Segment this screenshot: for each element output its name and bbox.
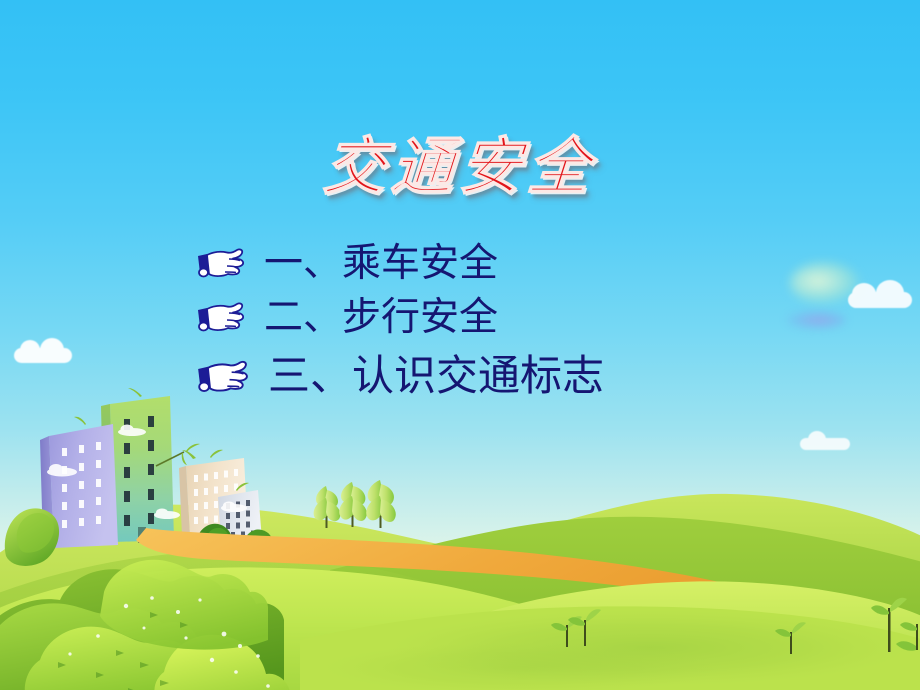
leaf-bottom-right	[896, 641, 916, 651]
field-shadow	[390, 610, 910, 686]
presentation-slide: 交通安全 一、乘车安全 二、步行安全	[0, 0, 920, 690]
pointing-hand-icon	[196, 246, 246, 280]
cloud-icon	[848, 292, 912, 308]
sprout	[900, 622, 918, 650]
pastel-glow	[786, 310, 846, 330]
agenda-item-2[interactable]: 二、步行安全	[196, 292, 716, 342]
hill-mid-left	[0, 551, 440, 690]
pointing-hand-icon	[196, 358, 250, 395]
sprout	[551, 616, 582, 647]
hill-mid-ridge	[330, 517, 920, 690]
hill-back-left	[0, 505, 470, 690]
cloud-icon	[800, 438, 850, 450]
slide-title-text: 交通安全	[321, 116, 599, 206]
cloud-over-city	[47, 425, 247, 520]
agenda-item-3-label: 三、认识交通标志	[268, 355, 604, 397]
hill-front-overlap	[300, 606, 920, 690]
agenda-list: 一、乘车安全 二、步行安全 三、认识交通标志	[196, 238, 716, 408]
field-shadow	[320, 642, 720, 690]
hill-front-left	[0, 567, 520, 690]
building-peach-tower	[179, 450, 248, 538]
sprout	[775, 622, 806, 654]
poplar-tree	[314, 486, 341, 528]
agenda-item-2-label: 二、步行安全	[264, 298, 498, 337]
agenda-item-1-label: 一、乘车安全	[264, 244, 498, 283]
building-gray-blue-tower	[218, 483, 262, 541]
building-purple-tower	[40, 417, 118, 548]
slide-title: 交通安全	[0, 116, 920, 206]
cloud-icon	[14, 348, 72, 363]
bush-beside-city	[196, 524, 232, 546]
building-green-tall-tower	[101, 388, 200, 543]
hill-back-right	[470, 494, 920, 690]
dirt-path	[136, 528, 846, 630]
agenda-item-1[interactable]: 一、乘车安全	[196, 238, 716, 288]
poplar-tree	[366, 480, 396, 528]
agenda-item-3[interactable]: 三、认识交通标志	[196, 348, 716, 404]
sprout	[871, 598, 907, 652]
bush-right-of-city	[244, 530, 273, 546]
pointing-hand-icon	[196, 300, 246, 334]
hill-front-right	[470, 581, 920, 690]
hill-group-back	[0, 494, 920, 690]
tree-left-background	[5, 508, 59, 566]
sprout	[568, 609, 601, 646]
bush-cluster-foreground	[0, 560, 290, 690]
poplar-tree	[339, 482, 367, 527]
